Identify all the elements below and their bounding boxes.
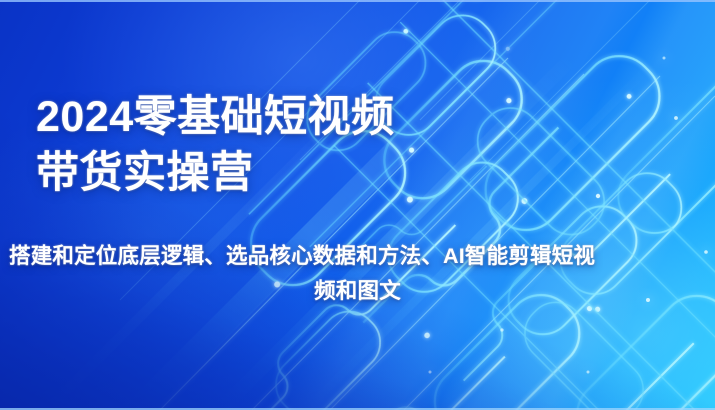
circuit-group-bottom-dense bbox=[322, 90, 715, 410]
background-glow-top bbox=[0, 0, 715, 410]
circuit-group-lower-right bbox=[121, 0, 703, 410]
circuit-group-cross-diagonal bbox=[301, 0, 715, 410]
background-edge-hairlines bbox=[0, 0, 715, 410]
circuit-sparkle-dots bbox=[429, 57, 708, 374]
beam-edge-lines bbox=[160, 58, 715, 410]
background-light-planes bbox=[0, 0, 715, 410]
background-base-gradient bbox=[0, 0, 715, 410]
circuit-group-upper-middle bbox=[225, 0, 655, 309]
background-circuit-pattern bbox=[0, 0, 715, 410]
banner-title-line-1: 2024零基础短视频 bbox=[36, 96, 395, 139]
faint-diagonal-lines bbox=[120, 0, 700, 300]
banner-title-line-2: 带货实操营 bbox=[36, 152, 254, 195]
background-corner-shadow bbox=[0, 0, 715, 410]
banner-subtitle-line-1: 搭建和定位底层逻辑、选品核心数据和方法、AI智能剪辑短视 bbox=[9, 246, 595, 268]
banner-subtitle-line-2: 频和图文 bbox=[0, 281, 715, 303]
background-glow-left bbox=[0, 0, 715, 410]
course-promo-banner: 2024零基础短视频 带货实操营 搭建和定位底层逻辑、选品核心数据和方法、AI智… bbox=[0, 0, 715, 410]
light-beam-streaks bbox=[40, 60, 652, 410]
background-glow-bottom-right bbox=[0, 0, 715, 410]
circuit-svg bbox=[0, 0, 715, 410]
banner-text-block: 2024零基础短视频 带货实操营 搭建和定位底层逻辑、选品核心数据和方法、AI智… bbox=[0, 0, 715, 410]
circuit-group-upper-right bbox=[219, 0, 715, 410]
